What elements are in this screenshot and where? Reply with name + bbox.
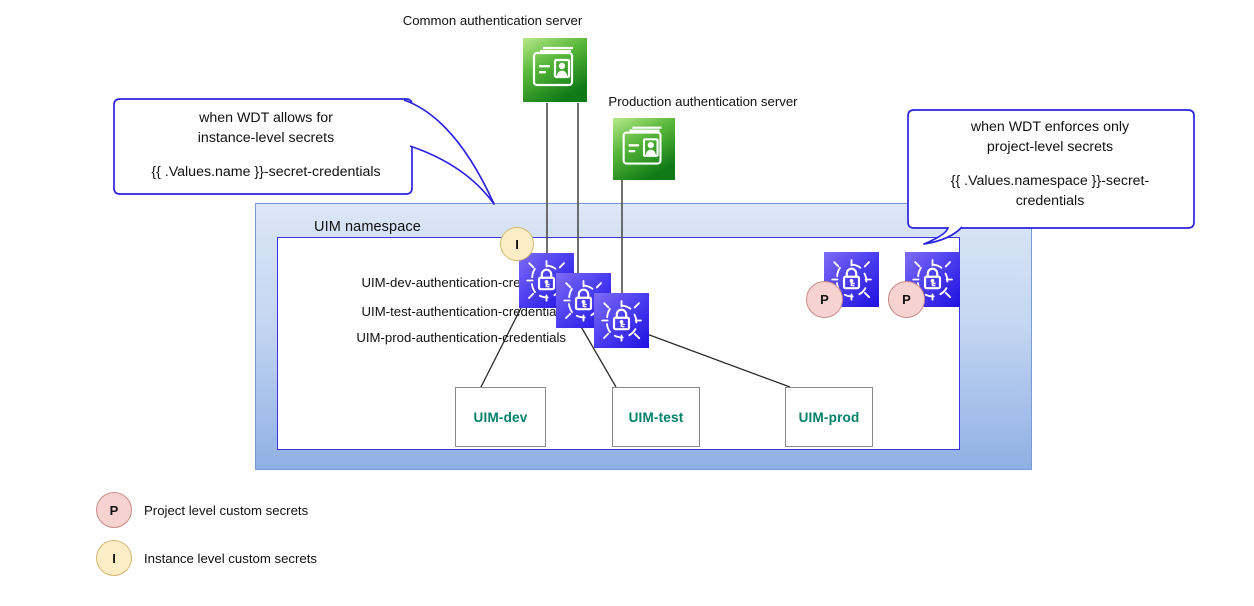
callout-left-tail bbox=[404, 100, 494, 204]
callout-right-spacer bbox=[910, 157, 1190, 171]
callout-right-line3: {{ .Values.namespace }}-secret- bbox=[910, 171, 1190, 191]
callout-left-line2: instance-level secrets bbox=[120, 128, 412, 148]
badge-project-secret-2: P bbox=[888, 281, 925, 318]
secret-label-uim-prod: UIM-prod-authentication-credentials bbox=[0, 330, 566, 345]
legend-badge-instance: I bbox=[96, 540, 132, 576]
common-auth-server-icon bbox=[523, 38, 587, 102]
callout-left-spacer bbox=[120, 148, 412, 162]
callout-left-line1: when WDT allows for bbox=[120, 108, 412, 128]
secret-label-uim-test: UIM-test-authentication-credentials bbox=[0, 304, 566, 319]
secret-label-uim-dev: UIM-dev-authentication-credentials bbox=[0, 275, 566, 290]
callout-right-tail bbox=[924, 227, 962, 244]
production-auth-server-icon bbox=[613, 118, 675, 180]
instance-box-uim-test: UIM-test bbox=[612, 387, 700, 447]
badge-project-secret-1: P bbox=[806, 281, 843, 318]
callout-right-line1: when WDT enforces only bbox=[910, 117, 1190, 137]
instance-box-uim-prod: UIM-prod bbox=[785, 387, 873, 447]
legend-badge-project: P bbox=[96, 492, 132, 528]
callout-right-line2: project-level secrets bbox=[910, 137, 1190, 157]
badge-instance-secret: I bbox=[500, 227, 534, 261]
common-auth-server-caption: Common authentication server bbox=[400, 13, 585, 29]
legend-label-project: Project level custom secrets bbox=[144, 503, 308, 518]
legend-item-instance: I Instance level custom secrets bbox=[96, 540, 317, 576]
diagram-canvas: UIM namespace when WDT allows for instan… bbox=[0, 0, 1254, 606]
callout-left-line3: {{ .Values.name }}-secret-credentials bbox=[120, 162, 412, 182]
secret-icon-uim-prod bbox=[594, 293, 649, 348]
legend-label-instance: Instance level custom secrets bbox=[144, 551, 317, 566]
legend-item-project: P Project level custom secrets bbox=[96, 492, 308, 528]
callout-right-line4: credentials bbox=[910, 191, 1190, 211]
callout-left: when WDT allows for instance-level secre… bbox=[120, 108, 412, 182]
instance-box-uim-dev: UIM-dev bbox=[455, 387, 546, 447]
callout-right: when WDT enforces only project-level sec… bbox=[910, 117, 1190, 211]
production-auth-server-caption: Production authentication server bbox=[595, 94, 811, 110]
